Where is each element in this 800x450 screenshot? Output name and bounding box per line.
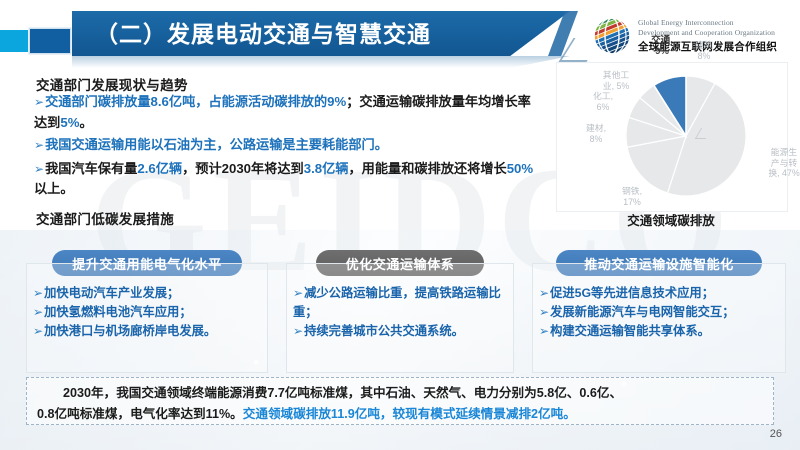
measure-arrow-icon: ➢ xyxy=(539,286,549,300)
bullet-arrow-icon: ➢ xyxy=(34,162,44,176)
measure-item: ➢加快氢燃料电池汽车应用； xyxy=(33,303,259,322)
measure-arrow-icon: ➢ xyxy=(539,305,549,319)
summary-line-2: 0.8亿吨标准煤，电气化率达到11%。交通领域碳排放11.9亿吨，较现有模式延续… xyxy=(37,404,763,425)
header-accent-square-cyan xyxy=(0,30,28,52)
geidco-globe-icon xyxy=(592,16,632,56)
bullet-text-run: ，预计2030年将达到 xyxy=(182,161,304,176)
header-bar-reflection xyxy=(72,56,570,68)
measure-arrow-icon: ➢ xyxy=(33,305,43,319)
summary-callout-box: 2030年，我国交通领域终端能源消费7.7亿吨标准煤，其中石油、天然气、电力分别… xyxy=(26,377,774,425)
bullet-text-run: ，用能量和碳排放还将增长 xyxy=(348,161,506,176)
bullet-item: ➢我国汽车保有量2.6亿辆，预计2030年将达到3.8亿辆，用能量和碳排放还将增… xyxy=(34,159,539,199)
measure-item: ➢发展新能源汽车与电网智能交互； xyxy=(539,303,777,322)
bullet-item: ➢我国交通运输用能以石油为主，公路运输是主要耗能部门。 xyxy=(34,135,539,156)
summary-line2-text: 0.8亿吨标准煤，电气化率达到11%。 xyxy=(37,407,243,421)
bullet-text-run: 2.6亿辆 xyxy=(137,161,182,176)
slide-header: （二）发展电动交通与智慧交通 xyxy=(0,8,800,58)
pie-label: 钢铁, 17% xyxy=(615,186,649,207)
measure-item: ➢减少公路运输比重，提高铁路运输比重； xyxy=(293,284,505,322)
measure-arrow-icon: ➢ xyxy=(33,324,43,338)
bullet-text-run: 。 xyxy=(79,115,92,130)
measure-pill-3[interactable]: 推动交通运输设施智能化 xyxy=(556,250,762,276)
logo-en-line1: Global Energy Interconnection xyxy=(638,18,800,28)
measure-box-3: ➢促进5G等先进信息技术应用；➢发展新能源汽车与电网智能交互；➢构建交通运输智能… xyxy=(532,263,786,373)
pie-label: 建筑 8% xyxy=(687,40,721,61)
bullet-text-run: 3.8亿辆 xyxy=(304,161,349,176)
measure-item: ➢构建交通运输智能共享体系。 xyxy=(539,322,777,341)
bullet-text-run: 50% xyxy=(507,161,533,176)
measure-pill-1[interactable]: 提升交通用能电气化水平 xyxy=(52,250,242,276)
bullet-text-run: 交通部门碳排放量8.6亿吨，占能源活动碳排放的9% xyxy=(45,94,346,109)
pie-chart xyxy=(622,72,750,200)
bullet-arrow-icon: ➢ xyxy=(34,138,44,152)
section-heading-status: 交通部门发展现状与趋势 xyxy=(36,74,188,94)
pie-chart-caption: 交通领域碳排放 xyxy=(556,210,786,229)
measure-item-label: 加快港口与机场廊桥岸电发展。 xyxy=(44,324,216,338)
page-title: （二）发展电动交通与智慧交通 xyxy=(95,18,555,50)
measure-arrow-icon: ➢ xyxy=(33,286,43,300)
pie-label: 能源生 产与转 换, 47% xyxy=(762,147,800,179)
measure-column-transport-system: 优化交通运输体系 ➢减少公路运输比重，提高铁路运输比重；➢持续完善城市公共交通系… xyxy=(286,250,514,373)
measure-item-label: 加快氢燃料电池汽车应用； xyxy=(44,305,192,319)
measure-item-label: 发展新能源汽车与电网智能交互； xyxy=(550,305,734,319)
bullet-item: ➢交通部门碳排放量8.6亿吨，占能源活动碳排放的9%；交通运输碳排放量年均增长率… xyxy=(34,92,539,132)
measure-column-smart-infra: 推动交通运输设施智能化 ➢促进5G等先进信息技术应用；➢发展新能源汽车与电网智能… xyxy=(532,250,786,373)
bullet-text-run: 以上。 xyxy=(34,181,74,196)
bullet-text-run: 我国汽车保有量 xyxy=(45,161,137,176)
pie-label: 化工, 6% xyxy=(587,91,619,112)
measure-arrow-icon: ➢ xyxy=(293,286,303,300)
bullet-text-run: 我国交通运输用能以石油为主，公路运输是主要耗能部门。 xyxy=(45,137,388,152)
measure-item: ➢促进5G等先进信息技术应用； xyxy=(539,284,777,303)
measure-column-electrification: 提升交通用能电气化水平 ➢加快电动汽车产业发展；➢加快氢燃料电池汽车应用；➢加快… xyxy=(26,250,268,373)
measure-item: ➢持续完善城市公共交通系统。 xyxy=(293,322,505,341)
measure-item: ➢加快电动汽车产业发展； xyxy=(33,284,259,303)
header-accent-square-blue xyxy=(30,29,70,53)
measure-arrow-icon: ➢ xyxy=(539,324,549,338)
measure-box-2: ➢减少公路运输比重，提高铁路运输比重；➢持续完善城市公共交通系统。 xyxy=(286,263,514,373)
measure-item-label: 构建交通运输智能共享体系。 xyxy=(550,324,710,338)
measure-item: ➢加快港口与机场廊桥岸电发展。 xyxy=(33,322,259,341)
measure-item-label: 加快电动汽车产业发展； xyxy=(44,286,179,300)
section-heading-measures: 交通部门低碳发展措施 xyxy=(36,208,174,228)
measure-item-label: 减少公路运输比重，提高铁路运输比重； xyxy=(293,286,501,319)
summary-line-1: 2030年，我国交通领域终端能源消费7.7亿吨标准煤，其中石油、天然气、电力分别… xyxy=(37,383,763,404)
bullet-arrow-icon: ➢ xyxy=(34,95,44,109)
pie-label: 交通, 9% xyxy=(645,35,679,57)
bullet-list: ➢交通部门碳排放量8.6亿吨，占能源活动碳排放的9%；交通运输碳排放量年均增长率… xyxy=(34,92,539,202)
slide-root: GEIDCO （二）发展电动交通与智慧交通 xyxy=(0,0,800,450)
summary-emphasis-text: 交通领域碳排放11.9亿吨，较现有模式延续情景减排2亿吨。 xyxy=(243,407,576,421)
pie-label: 其他工 业, 5% xyxy=(596,70,636,91)
measure-item-label: 持续完善城市公共交通系统。 xyxy=(304,324,464,338)
measure-box-1: ➢加快电动汽车产业发展；➢加快氢燃料电池汽车应用；➢加快港口与机场廊桥岸电发展。 xyxy=(26,263,268,373)
bullet-text-run: 5% xyxy=(60,115,79,130)
summary-line1-text: 2030年，我国交通领域终端能源消费7.7亿吨标准煤，其中石油、天然气、电力分别… xyxy=(63,386,622,400)
page-number: 26 xyxy=(770,428,782,440)
measure-arrow-icon: ➢ xyxy=(293,324,303,338)
measure-item-label: 促进5G等先进信息技术应用； xyxy=(550,286,714,300)
pie-label: 建材, 8% xyxy=(580,123,612,144)
